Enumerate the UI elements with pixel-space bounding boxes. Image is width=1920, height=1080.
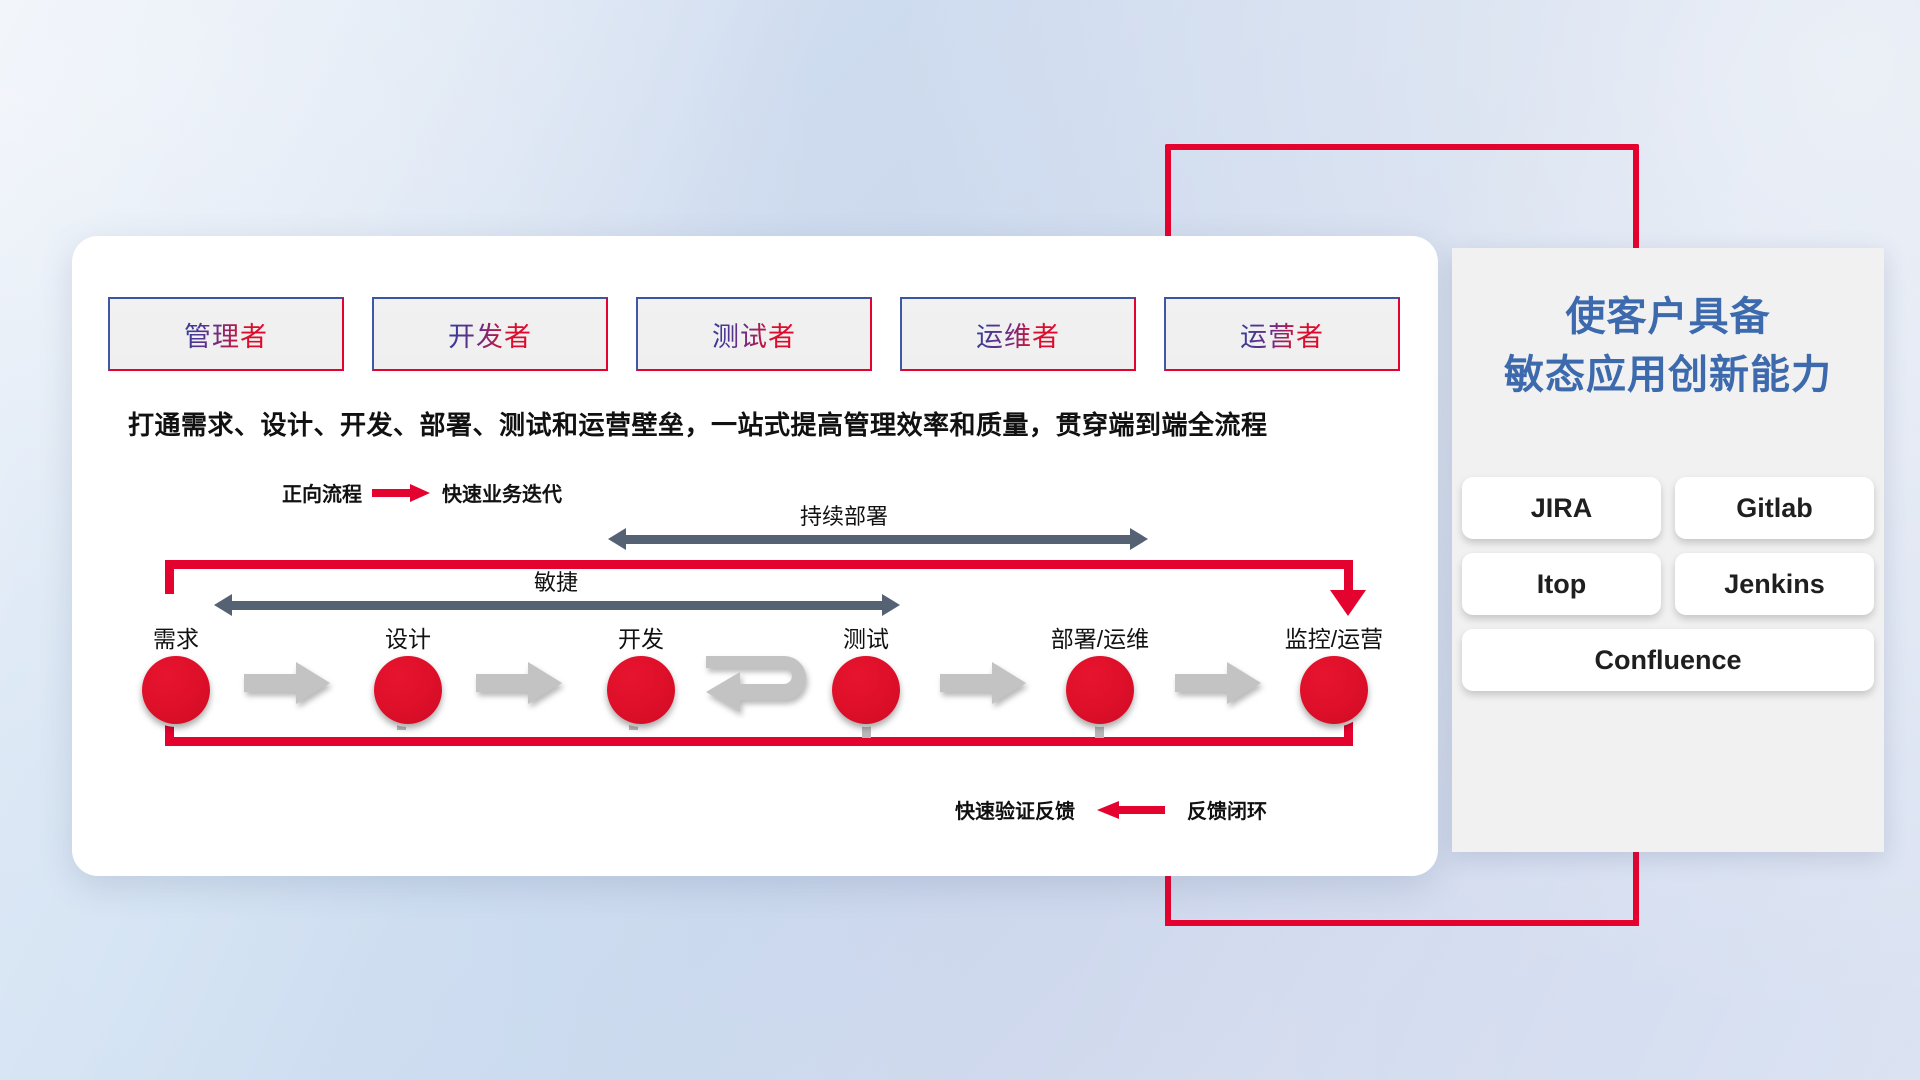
stage-deploy-ops[interactable]: 部署/运维 — [1030, 620, 1170, 724]
role-box-row: 管理者 开发者 测试者 运维者 运营者 — [108, 297, 1400, 371]
red-loop-down-arrow-icon — [1330, 590, 1366, 616]
stage-design[interactable]: 设计 — [358, 620, 458, 724]
uturn-arrow-icon — [700, 650, 818, 716]
role-box-manager[interactable]: 管理者 — [108, 297, 344, 371]
chevron-arrow-icon — [940, 660, 1026, 706]
stage-dot — [607, 656, 675, 724]
stage-label: 开发 — [591, 620, 691, 654]
panel-title-line1: 使客户具备 — [1566, 295, 1771, 339]
role-box-developer[interactable]: 开发者 — [372, 297, 608, 371]
red-loop-top-line — [165, 560, 1353, 569]
tool-confluence[interactable]: Confluence — [1462, 629, 1874, 691]
chevron-arrow-icon — [476, 660, 562, 706]
legend-forward-left-label: 正向流程 — [282, 478, 362, 507]
tool-itop[interactable]: Itop — [1462, 553, 1661, 615]
tool-gitlab[interactable]: Gitlab — [1675, 477, 1874, 539]
legend-feedback-right-label: 反馈闭环 — [1187, 795, 1267, 824]
role-box-tester[interactable]: 测试者 — [636, 297, 872, 371]
role-box-ops[interactable]: 运维者 — [900, 297, 1136, 371]
headline-text: 打通需求、设计、开发、部署、测试和运营壁垒，一站式提高管理效率和质量，贯穿端到端… — [128, 405, 1418, 442]
tool-list: JIRA Gitlab Itop Jenkins Confluence — [1462, 477, 1874, 691]
stage-develop[interactable]: 开发 — [591, 620, 691, 724]
arrow-left-icon — [1097, 801, 1165, 818]
span-label-agile: 敏捷 — [534, 565, 578, 597]
red-loop-bottom-line — [165, 737, 1353, 746]
stage-dot — [374, 656, 442, 724]
arrow-head-right-icon — [1130, 528, 1148, 550]
panel-title: 使客户具备 敏态应用创新能力 — [1452, 288, 1884, 404]
legend-forward-right-label: 快速业务迭代 — [442, 478, 562, 507]
stage-dot — [832, 656, 900, 724]
stage-requirement[interactable]: 需求 — [126, 620, 226, 724]
arrow-head-left-icon — [214, 594, 232, 616]
chevron-arrow-icon — [244, 660, 330, 706]
role-label: 管理者 — [184, 315, 268, 354]
legend-forward-flow: 正向流程 快速业务迭代 — [282, 478, 562, 507]
tool-jenkins[interactable]: Jenkins — [1675, 553, 1874, 615]
stage-test[interactable]: 测试 — [816, 620, 916, 724]
stage-dot — [1300, 656, 1368, 724]
role-label: 运营者 — [1240, 315, 1324, 354]
legend-feedback-left-label: 快速验证反馈 — [955, 795, 1075, 824]
panel-title-line2: 敏态应用创新能力 — [1452, 346, 1884, 404]
stage-label: 设计 — [358, 620, 458, 654]
legend-feedback-loop: 快速验证反馈 反馈闭环 — [955, 795, 1267, 824]
arrow-head-right-icon — [882, 594, 900, 616]
stage-dot — [142, 656, 210, 724]
span-label-continuous-deployment: 持续部署 — [800, 499, 888, 531]
double-arrow-continuous-deployment — [608, 528, 1148, 550]
stage-dot — [1066, 656, 1134, 724]
stage-monitor-operate[interactable]: 监控/运营 — [1264, 620, 1404, 724]
arrow-shaft — [625, 535, 1131, 544]
role-label: 运维者 — [976, 315, 1060, 354]
chevron-arrow-icon — [1175, 660, 1261, 706]
arrow-right-icon — [372, 484, 432, 501]
tool-jira[interactable]: JIRA — [1462, 477, 1661, 539]
arrow-head-left-icon — [608, 528, 626, 550]
stage-label: 监控/运营 — [1264, 620, 1404, 654]
stage-label: 需求 — [126, 620, 226, 654]
red-loop-right-descender — [1344, 560, 1353, 594]
stage-label: 部署/运维 — [1030, 620, 1170, 654]
stage-label: 测试 — [816, 620, 916, 654]
double-arrow-agile — [214, 594, 900, 616]
role-box-operator[interactable]: 运营者 — [1164, 297, 1400, 371]
role-label: 开发者 — [448, 315, 532, 354]
arrow-shaft — [231, 601, 883, 610]
role-label: 测试者 — [712, 315, 796, 354]
